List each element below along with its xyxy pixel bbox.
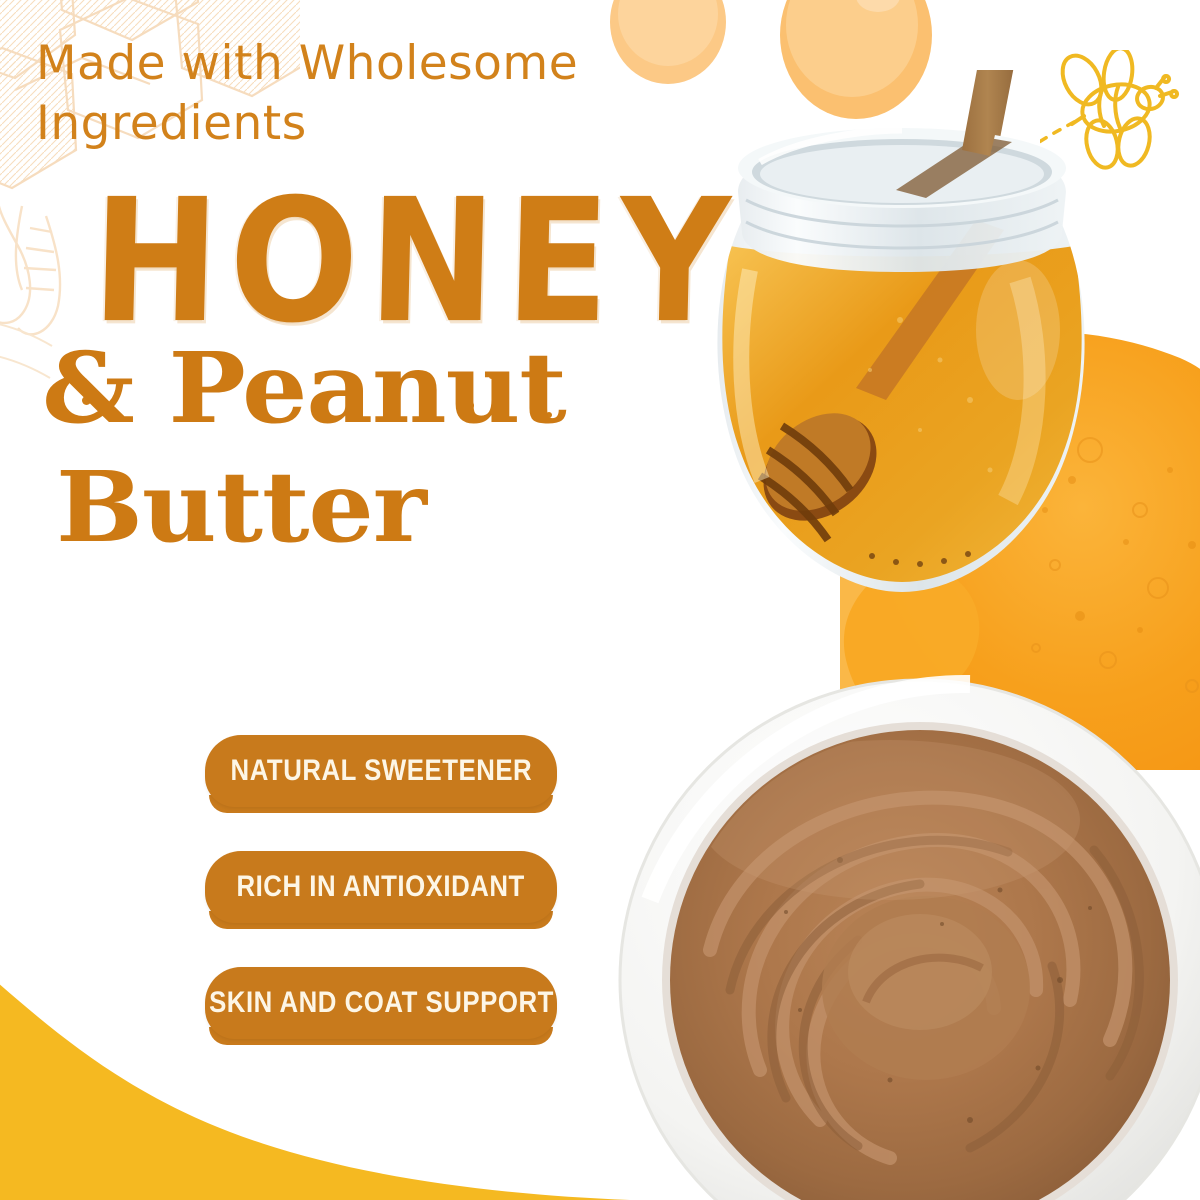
benefit-label: NATURAL SWEETENER: [230, 754, 532, 788]
page-title: HONEY: [90, 180, 756, 343]
benefit-label: SKIN AND COAT SUPPORT: [209, 986, 554, 1020]
benefit-badge-rich-in-antioxidant[interactable]: RICH IN ANTIOXIDANT: [205, 851, 557, 923]
benefit-badge-natural-sweetener[interactable]: NATURAL SWEETENER: [205, 735, 557, 807]
headline-block: Made with Wholesome Ingredients HONEY & …: [36, 34, 756, 556]
brand-lockup: HONEY & Peanut Butter: [94, 180, 756, 556]
benefit-label: RICH IN ANTIOXIDANT: [237, 870, 525, 904]
poster-canvas: Made with Wholesome Ingredients HONEY & …: [0, 0, 1200, 1200]
peanut-butter-bowl-photo: [590, 650, 1200, 1200]
benefits-list: NATURAL SWEETENER RICH IN ANTIOXIDANT SK…: [205, 735, 557, 1039]
kicker-text: Made with Wholesome Ingredients: [36, 34, 756, 154]
subtitle-butter: Butter: [56, 459, 798, 556]
benefit-badge-skin-and-coat-support[interactable]: SKIN AND COAT SUPPORT: [205, 967, 557, 1039]
subtitle-peanut: & Peanut: [42, 340, 799, 437]
